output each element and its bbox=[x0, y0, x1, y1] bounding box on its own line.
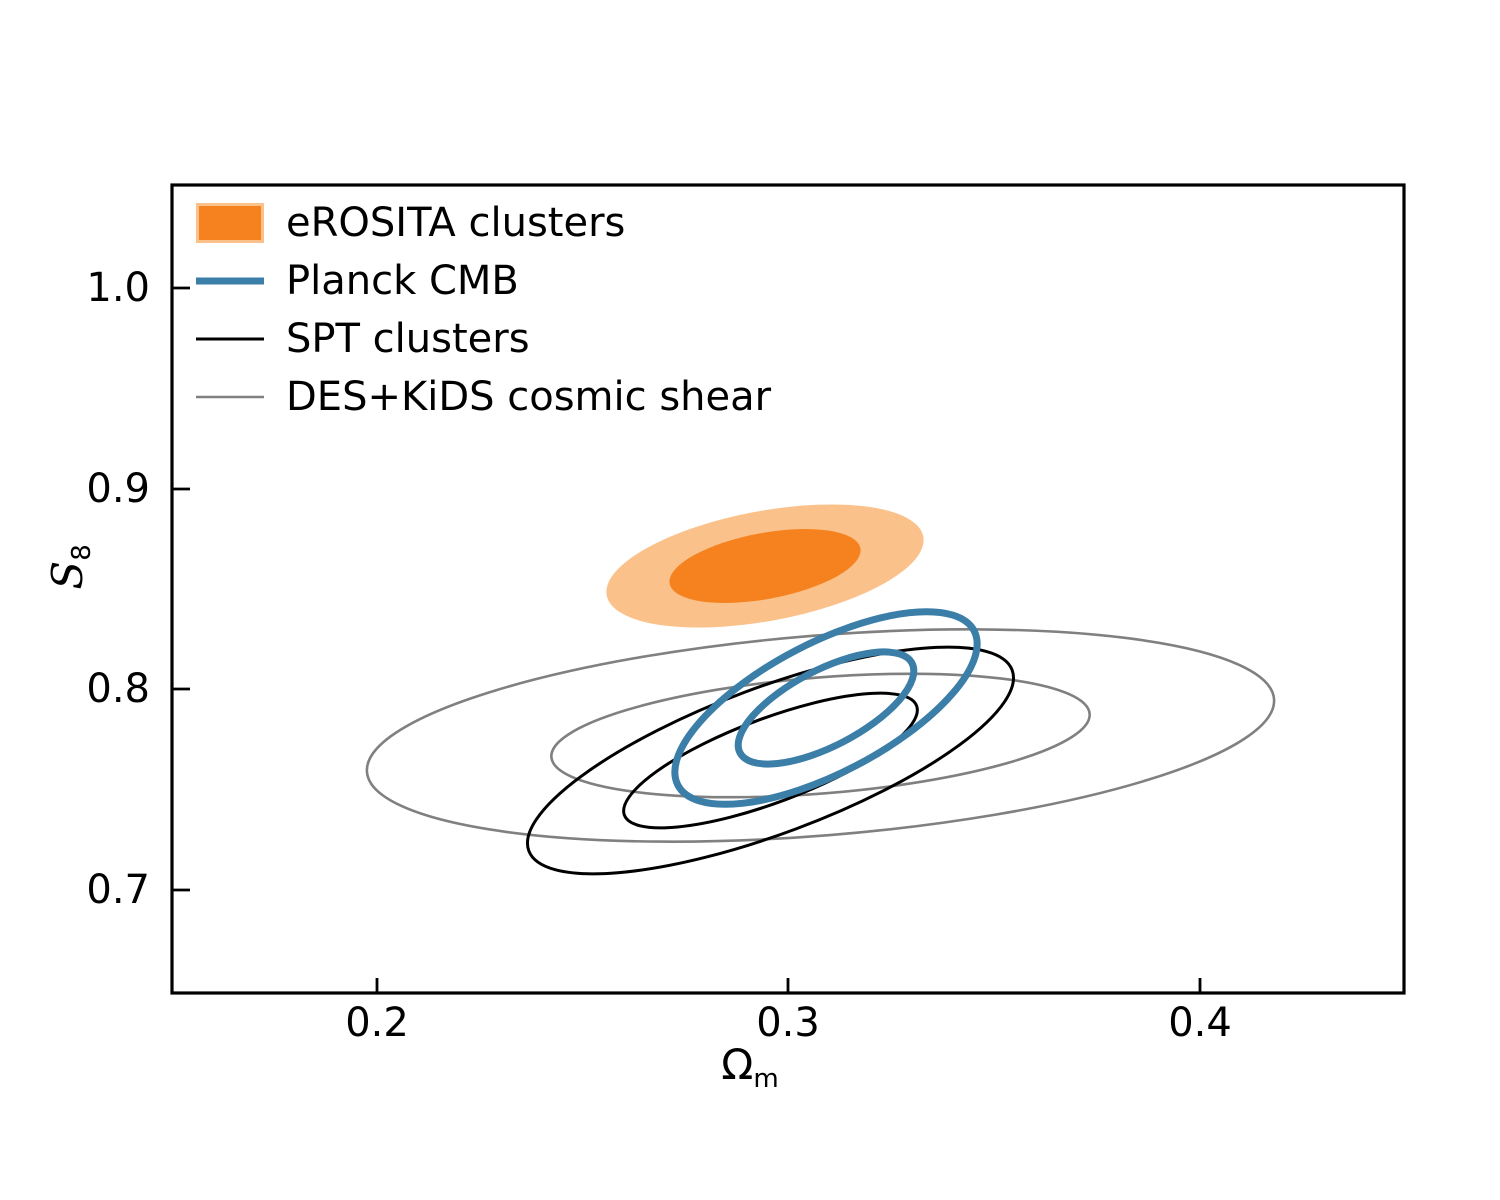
y-tick-label-1: 1.0 bbox=[30, 265, 150, 311]
legend-item-spt-clusters: SPT clusters bbox=[196, 316, 771, 362]
legend-item-erosita-clusters: eROSITA clusters bbox=[196, 200, 771, 246]
legend-label-spt-clusters: SPT clusters bbox=[286, 319, 530, 359]
cosmology-contour-figure: 1.0 0.9 0.8 0.7 0.2 0.3 0.4 Ωm S8 eROSIT… bbox=[0, 0, 1500, 1200]
x-axis-title-sub: m bbox=[753, 1064, 778, 1094]
y-axis-title-base: S bbox=[43, 561, 92, 590]
legend: eROSITA clusters Planck CMB SPT clusters bbox=[196, 200, 771, 420]
legend-item-planck-cmb: Planck CMB bbox=[196, 258, 771, 304]
y-axis-title: S8 bbox=[43, 497, 97, 637]
legend-label-erosita-clusters: eROSITA clusters bbox=[286, 203, 625, 243]
legend-swatch-spt-icon bbox=[196, 322, 264, 356]
legend-swatch-planck-icon bbox=[196, 264, 264, 298]
legend-item-des-kids-cosmic-shear: DES+KiDS cosmic shear bbox=[196, 374, 771, 420]
y-axis-title-sub: 8 bbox=[67, 544, 97, 561]
y-tick-label-3: 0.8 bbox=[30, 666, 150, 712]
x-axis-title: Ωm bbox=[0, 1040, 1500, 1094]
legend-label-des-kids-cosmic-shear: DES+KiDS cosmic shear bbox=[286, 377, 771, 417]
legend-swatch-des-kids-icon bbox=[196, 380, 264, 414]
x-axis-title-base: Ω bbox=[721, 1040, 753, 1089]
legend-swatch-erosita-icon bbox=[196, 206, 264, 240]
legend-label-planck-cmb: Planck CMB bbox=[286, 261, 519, 301]
y-tick-label-4: 0.7 bbox=[30, 867, 150, 913]
